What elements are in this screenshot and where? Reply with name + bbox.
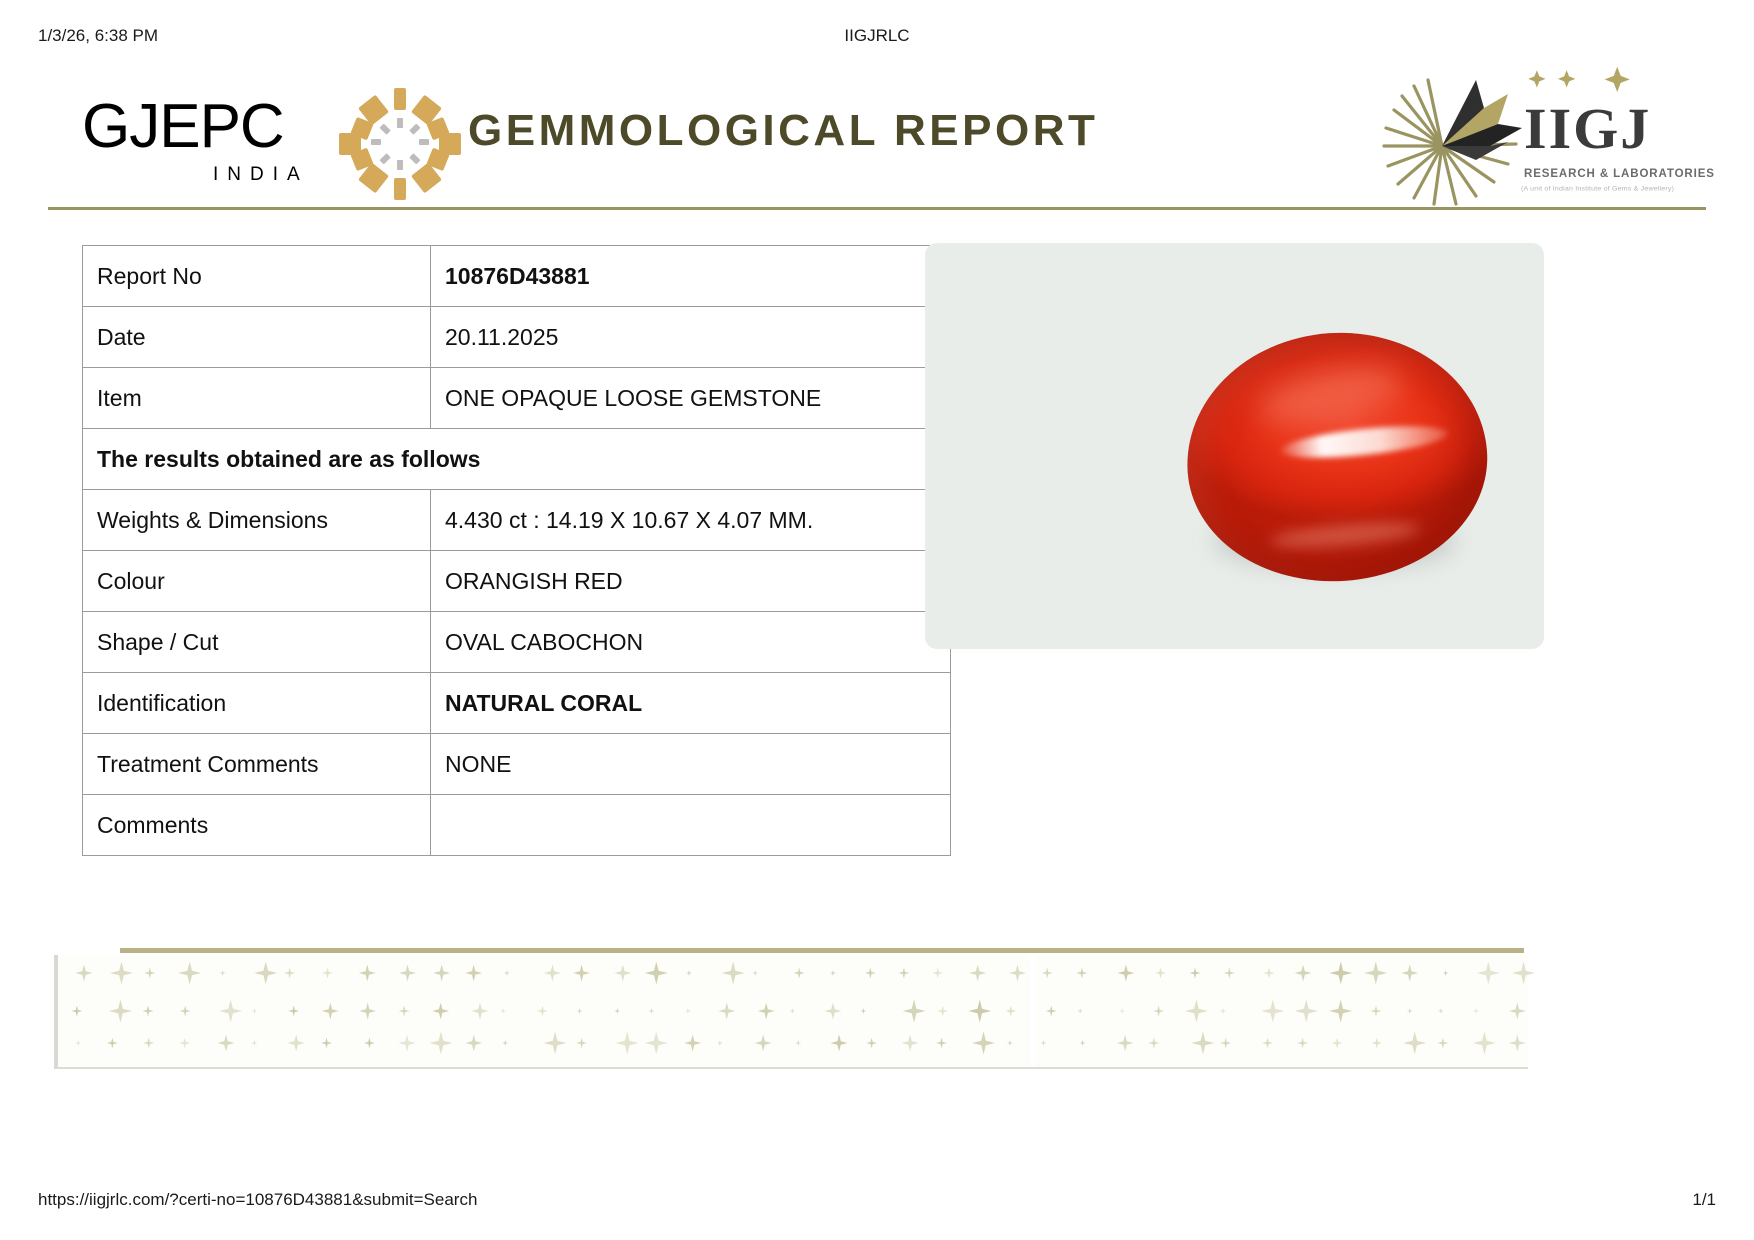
hologram-star-icon: [1332, 1038, 1343, 1049]
hologram-star-icon: [1370, 1006, 1381, 1017]
hologram-star-icon: [866, 1038, 877, 1049]
iigj-wordmark-group: IIGJ RESEARCH & LABORATORIES (A unit of …: [1520, 64, 1702, 206]
gjepc-logo: GJEPC INDIA: [82, 84, 442, 199]
row-value: 20.11.2025: [431, 307, 951, 368]
hologram-star-icon: [1042, 968, 1053, 979]
gjepc-wordmark: GJEPC: [82, 96, 284, 158]
hologram-star-icon: [1407, 1008, 1413, 1014]
table-row: Report No 10876D43881: [83, 246, 951, 307]
hologram-star-icon: [71, 1006, 82, 1017]
row-label: Comments: [83, 795, 431, 856]
row-label: Colour: [83, 551, 431, 612]
hologram-star-icon: [937, 1006, 948, 1017]
hologram-star-icon: [1009, 965, 1026, 982]
hologram-star-icon: [932, 968, 943, 979]
table-row: Treatment Comments NONE: [83, 734, 951, 795]
hologram-star-icon: [968, 1000, 991, 1023]
hologram-star-icon: [898, 968, 909, 979]
hologram-star-icon: [1371, 1038, 1382, 1049]
gjepc-sunburst-icon: [339, 88, 461, 200]
hologram-star-icon: [180, 1006, 191, 1017]
hologram-star-icon: [685, 1008, 691, 1014]
hologram-star-icon: [251, 1040, 257, 1046]
hologram-star-icon: [577, 1008, 583, 1014]
hologram-star-icon: [718, 1003, 735, 1020]
hologram-star-icon: [645, 1032, 668, 1055]
hologram-star-icon: [544, 965, 561, 982]
security-hologram-strip: [54, 955, 1528, 1069]
hologram-star-icon: [1401, 965, 1418, 982]
page-title: GEMMOLOGICAL REPORT: [468, 106, 1098, 156]
iigj-starburst-icon: [1380, 66, 1540, 206]
hologram-star-icon: [110, 962, 133, 985]
hologram-star-icon: [1297, 1038, 1308, 1049]
row-value: NONE: [431, 734, 951, 795]
row-label: Treatment Comments: [83, 734, 431, 795]
row-label: Item: [83, 368, 431, 429]
hologram-star-icon: [1040, 1040, 1046, 1046]
header-divider: [48, 207, 1706, 210]
hologram-star-icon: [1005, 1006, 1016, 1017]
row-value: [431, 795, 951, 856]
hologram-star-icon: [969, 965, 986, 982]
hologram-star-icon: [220, 970, 226, 976]
hologram-star-icon: [218, 1035, 235, 1052]
hologram-star-icon: [502, 1040, 508, 1046]
hologram-star-icon: [789, 1008, 795, 1014]
hologram-divider: [1030, 955, 1036, 1067]
hologram-star-icon: [755, 1035, 772, 1052]
iigj-logo: IIGJ RESEARCH & LABORATORIES (A unit of …: [1380, 62, 1700, 207]
iigj-letters: IIGJ: [1524, 100, 1651, 158]
hologram-star-icon: [1080, 1040, 1086, 1046]
hologram-star-row: [58, 1029, 1528, 1063]
hologram-star-icon: [1185, 1000, 1208, 1023]
hologram-star-icon: [537, 1006, 548, 1017]
hologram-star-icon: [1190, 968, 1201, 979]
hologram-star-icon: [432, 1003, 449, 1020]
hologram-star-icon: [860, 1008, 866, 1014]
row-value: ONE OPAQUE LOOSE GEMSTONE: [431, 368, 951, 429]
hologram-star-icon: [1077, 1008, 1083, 1014]
hologram-star-icon: [75, 965, 92, 982]
hologram-star-icon: [1364, 962, 1387, 985]
hologram-star-icon: [1191, 1032, 1214, 1055]
hologram-star-icon: [722, 962, 745, 985]
hologram-star-icon: [1264, 968, 1275, 979]
hologram-star-icon: [1329, 962, 1352, 985]
iigj-subtitle: RESEARCH & LABORATORIES: [1524, 168, 1715, 180]
hologram-star-icon: [504, 970, 510, 976]
hologram-star-icon: [284, 968, 295, 979]
hologram-star-icon: [322, 968, 333, 979]
hologram-star-icon: [1295, 965, 1312, 982]
hologram-star-icon: [429, 1032, 452, 1055]
hologram-star-icon: [1076, 968, 1087, 979]
hologram-star-icon: [1224, 968, 1235, 979]
hologram-star-icon: [903, 1000, 926, 1023]
hologram-star-icon: [109, 1000, 132, 1023]
hologram-star-icon: [364, 1038, 375, 1049]
row-label: Identification: [83, 673, 431, 734]
hologram-star-icon: [1477, 962, 1500, 985]
table-row: Identification NATURAL CORAL: [83, 673, 951, 734]
hologram-star-icon: [645, 962, 668, 985]
iigj-fine-print: (A unit of Indian Institute of Gems & Je…: [1521, 186, 1674, 192]
hologram-star-icon: [178, 962, 201, 985]
hologram-star-icon: [465, 1035, 482, 1052]
hologram-star-icon: [902, 1035, 919, 1052]
hologram-star-icon: [399, 1035, 416, 1052]
hologram-star-icon: [179, 1038, 190, 1049]
hologram-star-icon: [107, 1038, 118, 1049]
print-doc-title: IIGJRLC: [0, 26, 1754, 46]
hologram-star-icon: [219, 1000, 242, 1023]
results-heading: The results obtained are as follows: [83, 429, 951, 490]
hologram-star-icon: [500, 1008, 506, 1014]
hologram-star-icon: [143, 1038, 154, 1049]
row-value: NATURAL CORAL: [431, 673, 951, 734]
hologram-star-icon: [1295, 1000, 1318, 1023]
hologram-star-icon: [1329, 1000, 1352, 1023]
hologram-star-row: [58, 995, 1528, 1029]
hologram-star-icon: [544, 1032, 567, 1055]
row-value: ORANGISH RED: [431, 551, 951, 612]
hologram-star-icon: [1512, 962, 1535, 985]
table-row: Shape / Cut OVAL CABOCHON: [83, 612, 951, 673]
hologram-star-icon: [1443, 970, 1449, 976]
hologram-star-icon: [433, 965, 450, 982]
report-table-body: Report No 10876D43881 Date 20.11.2025 It…: [83, 246, 951, 856]
hologram-star-icon: [1117, 1035, 1134, 1052]
hologram-star-icon: [614, 1008, 620, 1014]
hologram-star-icon: [1119, 1008, 1125, 1014]
hologram-star-icon: [573, 965, 590, 982]
hologram-star-icon: [465, 965, 482, 982]
hologram-star-icon: [686, 970, 692, 976]
row-value: 10876D43881: [431, 246, 951, 307]
hologram-star-icon: [1117, 965, 1134, 982]
hologram-top-edge: [120, 948, 1524, 953]
hologram-star-icon: [684, 1035, 701, 1052]
hologram-star-icon: [936, 1038, 947, 1049]
table-row: Item ONE OPAQUE LOOSE GEMSTONE: [83, 368, 951, 429]
row-value: 4.430 ct : 14.19 X 10.67 X 4.07 MM.: [431, 490, 951, 551]
hologram-star-icon: [251, 1008, 257, 1014]
hologram-star-icon: [321, 1038, 332, 1049]
hologram-star-icon: [1155, 968, 1166, 979]
hologram-star-icon: [614, 965, 631, 982]
hologram-star-icon: [1220, 1008, 1226, 1014]
row-value: OVAL CABOCHON: [431, 612, 951, 673]
hologram-star-icon: [794, 968, 805, 979]
row-label: Date: [83, 307, 431, 368]
row-label: Shape / Cut: [83, 612, 431, 673]
hologram-star-icon: [359, 965, 376, 982]
hologram-star-icon: [1509, 1035, 1526, 1052]
hologram-star-icon: [1437, 1038, 1448, 1049]
hologram-star-icon: [1220, 1038, 1231, 1049]
row-label: Weights & Dimensions: [83, 490, 431, 551]
table-row: Colour ORANGISH RED: [83, 551, 951, 612]
hologram-star-icon: [1473, 1032, 1496, 1055]
hologram-star-icon: [795, 1040, 801, 1046]
hologram-star-icon: [1007, 1040, 1013, 1046]
hologram-star-icon: [865, 968, 876, 979]
hologram-star-icon: [1403, 1032, 1426, 1055]
hologram-star-icon: [648, 1008, 654, 1014]
hologram-star-icon: [359, 1003, 376, 1020]
page-number: 1/1: [1692, 1190, 1716, 1210]
table-row-results-heading: The results obtained are as follows: [83, 429, 951, 490]
hologram-star-icon: [616, 1032, 639, 1055]
hologram-star-icon: [752, 970, 758, 976]
hologram-star-icon: [1438, 1008, 1444, 1014]
hologram-star-icon: [288, 1035, 305, 1052]
hologram-star-icon: [288, 1006, 299, 1017]
browser-print-footer: https://iigjrlc.com/?certi-no=10876D4388…: [0, 1190, 1754, 1212]
hologram-star-icon: [399, 965, 416, 982]
hologram-star-icon: [824, 1003, 841, 1020]
browser-print-header: 1/3/26, 6:38 PM IIGJRLC: [0, 26, 1754, 48]
hologram-star-icon: [399, 1006, 410, 1017]
report-header: GJEPC INDIA: [48, 62, 1706, 207]
hologram-star-icon: [144, 968, 155, 979]
hologram-star-row: [58, 959, 1528, 993]
sparkle-icons: [1528, 67, 1630, 92]
table-row: Comments: [83, 795, 951, 856]
hologram-star-icon: [576, 1038, 587, 1049]
row-label: Report No: [83, 246, 431, 307]
gemmological-report-table: Report No 10876D43881 Date 20.11.2025 It…: [82, 245, 951, 856]
hologram-star-icon: [972, 1032, 995, 1055]
hologram-star-icon: [75, 1040, 81, 1046]
table-row: Weights & Dimensions 4.430 ct : 14.19 X …: [83, 490, 951, 551]
hologram-star-icon: [758, 1003, 775, 1020]
hologram-star-icon: [1261, 1000, 1284, 1023]
source-url[interactable]: https://iigjrlc.com/?certi-no=10876D4388…: [38, 1190, 477, 1210]
hologram-star-icon: [830, 970, 836, 976]
hologram-star-icon: [1473, 1008, 1479, 1014]
hologram-star-icon: [1153, 1006, 1164, 1017]
hologram-star-icon: [471, 1003, 488, 1020]
hologram-star-icon: [254, 962, 277, 985]
hologram-star-icon: [1148, 1038, 1159, 1049]
hologram-star-icon: [1509, 1003, 1526, 1020]
table-row: Date 20.11.2025: [83, 307, 951, 368]
hologram-star-icon: [1262, 1038, 1273, 1049]
hologram-star-icon: [717, 1040, 723, 1046]
gjepc-subtext: INDIA: [213, 164, 309, 186]
gemstone-photo: [925, 243, 1544, 649]
hologram-star-icon: [143, 1006, 154, 1017]
hologram-star-icon: [322, 1003, 339, 1020]
hologram-star-icon: [1046, 1006, 1057, 1017]
hologram-star-icon: [831, 1035, 848, 1052]
